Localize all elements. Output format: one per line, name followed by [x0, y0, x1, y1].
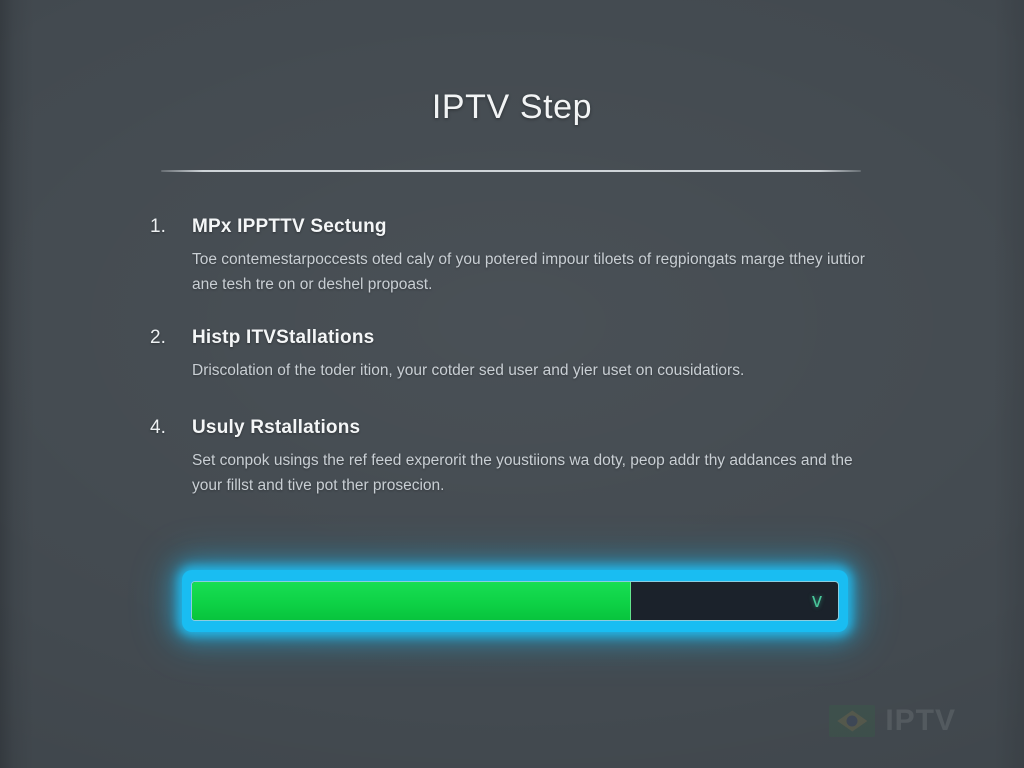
page-title: IPTV Step: [0, 88, 1024, 127]
step-header: 1. MPx IPPTTV Sectung: [150, 216, 874, 238]
step-number: 2.: [150, 327, 192, 349]
step-title: MPx IPPTTV Sectung: [192, 216, 387, 238]
list-item: 1. MPx IPPTTV Sectung Toe contemestarpoc…: [150, 216, 874, 297]
watermark: IPTV: [829, 704, 956, 738]
step-body: Toe contemestarpoccests oted caly of you…: [192, 247, 872, 297]
flag-diamond: [837, 711, 867, 732]
progress-track[interactable]: v: [191, 581, 839, 621]
step-header: 4. Usuly Rstallations: [150, 417, 874, 439]
step-number: 1.: [150, 216, 192, 238]
step-body: Driscolation of the toder ition, your co…: [192, 358, 872, 383]
step-number: 4.: [150, 417, 192, 439]
watermark-label: IPTV: [885, 704, 956, 738]
step-title: Histp ITVStallations: [192, 327, 374, 349]
brazil-flag-icon: [829, 705, 875, 737]
chevron-down-icon[interactable]: v: [812, 591, 822, 611]
title-divider: [161, 170, 861, 172]
flag-globe: [847, 716, 858, 727]
step-header: 2. Histp ITVStallations: [150, 327, 874, 349]
list-item: 2. Histp ITVStallations Driscolation of …: [150, 327, 874, 383]
steps-list: 1. MPx IPPTTV Sectung Toe contemestarpoc…: [150, 216, 874, 521]
iptv-step-screen: IPTV Step 1. MPx IPPTTV Sectung Toe cont…: [0, 0, 1024, 768]
list-item: 4. Usuly Rstallations Set conpok usings …: [150, 417, 874, 498]
progress-bar[interactable]: v: [182, 570, 848, 632]
step-title: Usuly Rstallations: [192, 417, 360, 439]
step-body: Set conpok usings the ref feed experorit…: [192, 448, 872, 498]
progress-fill: [192, 582, 631, 620]
